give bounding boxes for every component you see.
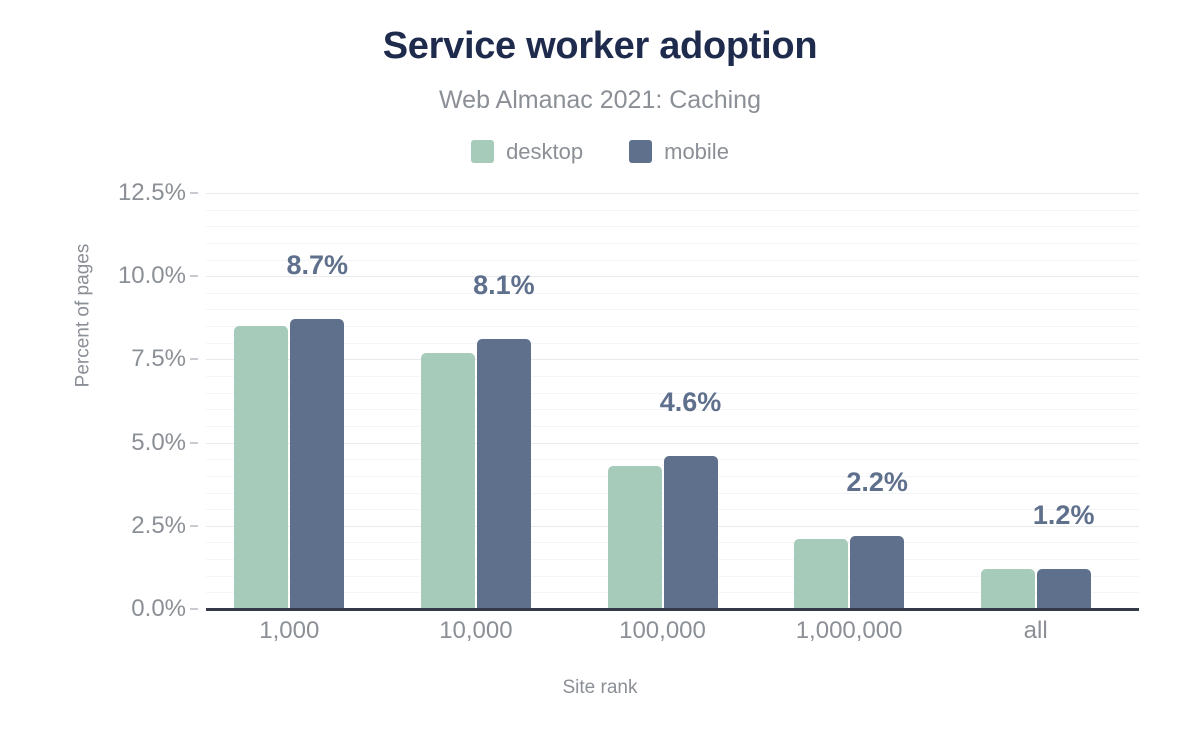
gridline-minor xyxy=(206,226,1139,227)
y-tick-mark xyxy=(190,608,198,610)
y-tick-label: 7.5% xyxy=(86,347,186,371)
bar-value-label: 4.6% xyxy=(601,389,781,416)
chart-container: Service worker adoption Web Almanac 2021… xyxy=(0,0,1200,742)
legend-label-mobile: mobile xyxy=(664,141,729,163)
y-axis-ticks: 12.5%10.0%7.5%5.0%2.5%0.0% xyxy=(86,193,186,609)
y-tick-mark xyxy=(190,442,198,444)
bar-mobile-100000[interactable] xyxy=(664,456,718,609)
y-tick-label: 0.0% xyxy=(86,597,186,621)
bar-value-label: 8.1% xyxy=(414,272,594,299)
gridline-minor xyxy=(206,326,1139,327)
y-tick-mark xyxy=(190,192,198,194)
legend-item-mobile[interactable]: mobile xyxy=(629,140,729,163)
gridline-minor xyxy=(206,376,1139,377)
legend-label-desktop: desktop xyxy=(506,141,583,163)
legend-item-desktop[interactable]: desktop xyxy=(471,140,583,163)
bar-mobile-all[interactable] xyxy=(1037,569,1091,609)
bar-mobile-1000000[interactable] xyxy=(850,536,904,609)
plot-area: 8.7%8.1%4.6%2.2%1.2% xyxy=(206,193,1139,609)
bar-mobile-1000[interactable] xyxy=(290,319,344,609)
gridline-minor xyxy=(206,343,1139,344)
chart-legend: desktop mobile xyxy=(0,140,1200,163)
bar-value-label: 2.2% xyxy=(787,469,967,496)
bar-desktop-1000000[interactable] xyxy=(794,539,848,609)
gridline-major xyxy=(206,193,1139,194)
x-tick-label: all xyxy=(936,617,1136,646)
y-tick-mark xyxy=(190,275,198,277)
gridline-minor xyxy=(206,309,1139,310)
x-tick-label: 1,000 xyxy=(189,617,389,646)
y-tick-label: 2.5% xyxy=(86,514,186,538)
y-tick-label: 5.0% xyxy=(86,431,186,455)
x-tick-label: 10,000 xyxy=(376,617,576,646)
y-tick-mark xyxy=(190,358,198,360)
gridline-minor xyxy=(206,243,1139,244)
bar-desktop-all[interactable] xyxy=(981,569,1035,609)
bar-desktop-1000[interactable] xyxy=(234,326,288,609)
x-axis-line xyxy=(206,608,1139,611)
bar-desktop-10000[interactable] xyxy=(421,353,475,609)
x-axis-title: Site rank xyxy=(0,678,1200,697)
gridline-minor xyxy=(206,210,1139,211)
gridline-minor xyxy=(206,293,1139,294)
y-tick-mark xyxy=(190,525,198,527)
bar-desktop-100000[interactable] xyxy=(608,466,662,609)
bar-value-label: 8.7% xyxy=(227,252,407,279)
gridline-major xyxy=(206,443,1139,444)
chart-title: Service worker adoption xyxy=(0,26,1200,68)
y-tick-label: 10.0% xyxy=(86,264,186,288)
y-tick-label: 12.5% xyxy=(86,181,186,205)
legend-swatch-mobile xyxy=(629,140,652,163)
legend-swatch-desktop xyxy=(471,140,494,163)
gridline-minor xyxy=(206,426,1139,427)
bar-mobile-10000[interactable] xyxy=(477,339,531,609)
bar-value-label: 1.2% xyxy=(974,502,1154,529)
x-tick-label: 100,000 xyxy=(563,617,763,646)
chart-subtitle: Web Almanac 2021: Caching xyxy=(0,87,1200,115)
gridline-major xyxy=(206,359,1139,360)
x-tick-label: 1,000,000 xyxy=(749,617,949,646)
